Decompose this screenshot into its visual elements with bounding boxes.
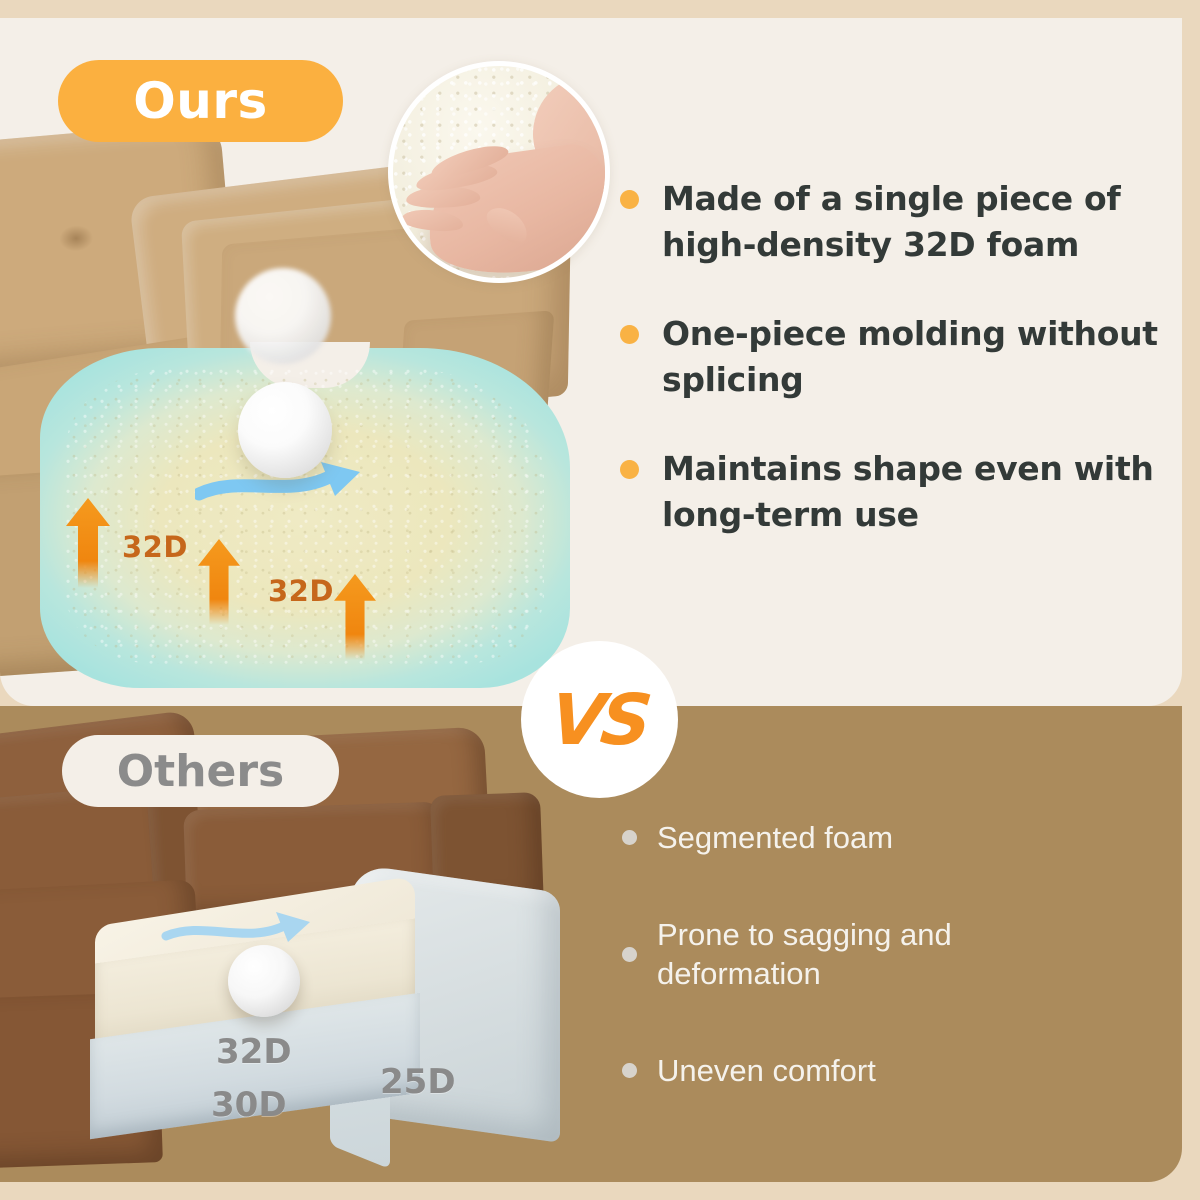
list-item: Maintains shape even with long-term use — [620, 446, 1165, 537]
list-item: Segmented foam — [622, 818, 1092, 857]
ours-badge-label: Ours — [133, 72, 268, 130]
ours-feature-list: Made of a single piece of high-density 3… — [620, 176, 1165, 581]
list-item: Prone to sagging and deformation — [622, 915, 1092, 993]
bullet-dot-icon — [620, 325, 639, 344]
others-density-label-30d: 30D — [211, 1085, 287, 1125]
thumb — [482, 200, 534, 249]
others-bullet-text: Segmented foam — [657, 818, 893, 857]
others-bullet-text: Uneven comfort — [657, 1051, 876, 1090]
vs-label: VS — [547, 679, 652, 761]
vs-badge: VS — [521, 641, 678, 798]
bouncing-ball-lower — [238, 382, 332, 478]
support-arrow-icon-1 — [66, 498, 110, 588]
ours-bullet-text: Made of a single piece of high-density 3… — [662, 176, 1165, 267]
list-item: Uneven comfort — [622, 1051, 1092, 1090]
bullet-dot-icon — [622, 1063, 637, 1078]
others-badge: Others — [62, 735, 339, 807]
others-density-label-25d: 25D — [380, 1062, 456, 1102]
list-item: Made of a single piece of high-density 3… — [620, 176, 1165, 267]
bullet-dot-icon — [620, 460, 639, 479]
support-arrow-icon-3 — [334, 574, 376, 660]
ours-bullet-text: Maintains shape even with long-term use — [662, 446, 1165, 537]
others-drawback-list: Segmented foam Prone to sagging and defo… — [622, 818, 1092, 1148]
ours-bullet-text: One-piece molding without splicing — [662, 311, 1165, 402]
ours-badge: Ours — [58, 60, 343, 142]
bullet-dot-icon — [622, 830, 637, 845]
bullet-dot-icon — [622, 947, 637, 962]
list-item: One-piece molding without splicing — [620, 311, 1165, 402]
others-bullet-text: Prone to sagging and deformation — [657, 915, 1092, 993]
hand-press-foam-inset — [388, 61, 610, 283]
bullet-dot-icon — [620, 190, 639, 209]
others-ball — [228, 945, 300, 1017]
others-density-label-32d: 32D — [216, 1032, 292, 1072]
others-badge-label: Others — [117, 746, 285, 797]
infographic-root: 32D 32D Ours Made of a single piece of h… — [0, 0, 1200, 1200]
ours-density-label-1: 32D — [122, 530, 188, 564]
bouncing-ball-upper — [235, 268, 331, 364]
tuft-dimple — [58, 224, 94, 253]
support-arrow-icon-2 — [198, 538, 240, 626]
ours-density-label-2: 32D — [268, 574, 334, 608]
